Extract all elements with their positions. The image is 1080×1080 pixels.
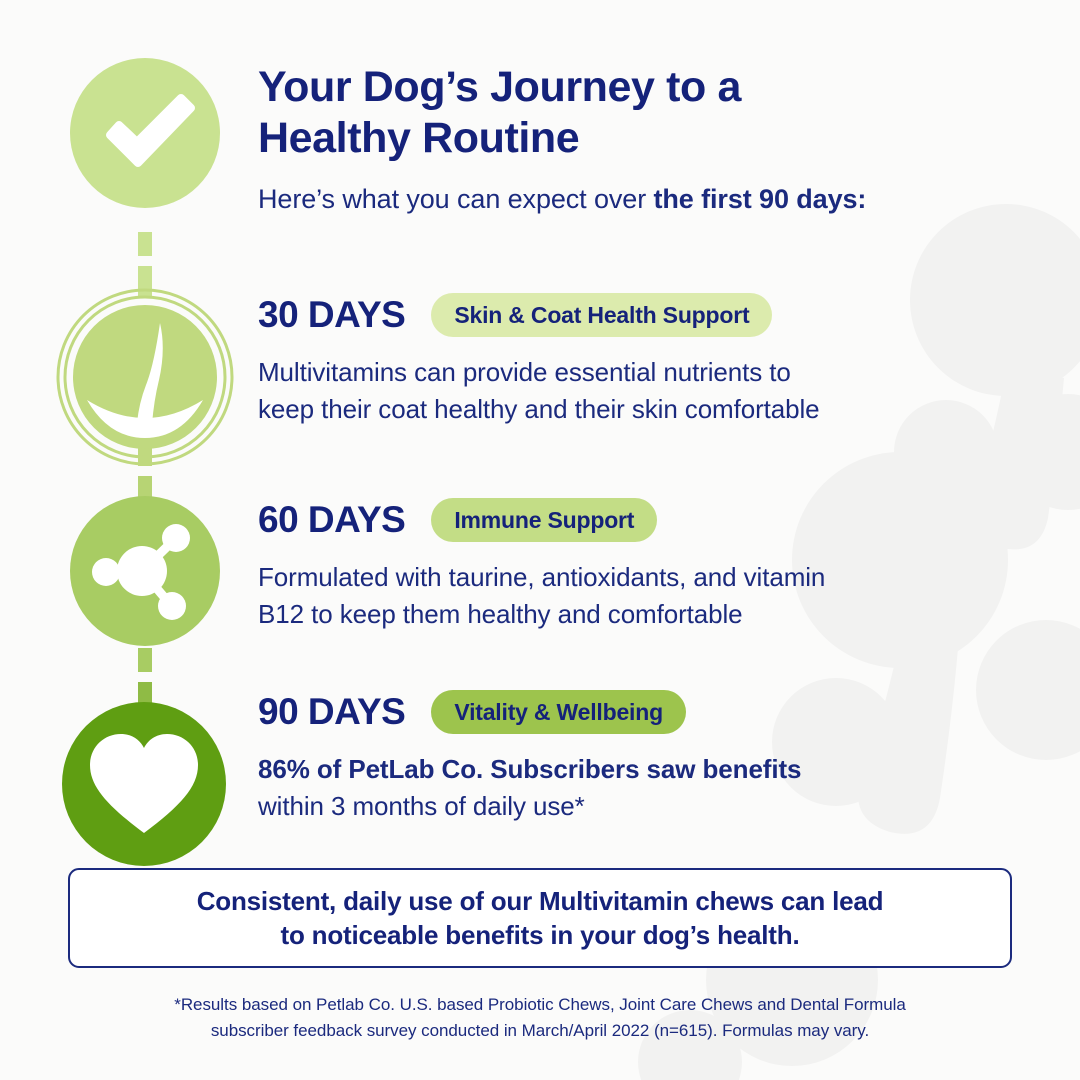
- page-title-line2: Healthy Routine: [258, 113, 1048, 164]
- timeline-node-check: [70, 58, 220, 208]
- disclaimer-line2: subscriber feedback survey conducted in …: [60, 1018, 1020, 1044]
- page-title-line1: Your Dog’s Journey to a: [258, 63, 741, 111]
- stage-90-days-label: 90 DAYS: [258, 691, 405, 733]
- summary-callout-line1: Consistent, daily use of our Multivitami…: [197, 884, 884, 918]
- page-subtitle-emphasis: the first 90 days:: [654, 184, 867, 214]
- stage-60-description: Formulated with taurine, antioxidants, a…: [258, 543, 1058, 633]
- stage-30-description: Multivitamins can provide essential nutr…: [258, 338, 1058, 428]
- timeline-node-heart: [62, 702, 226, 866]
- stage-90-days: 90 DAYS Vitality & Wellbeing 86% of PetL…: [258, 689, 1058, 825]
- hair-follicle-icon: [56, 288, 234, 466]
- summary-callout: Consistent, daily use of our Multivitami…: [68, 868, 1012, 968]
- stage-30-header: 30 DAYS Skin & Coat Health Support: [258, 292, 1058, 338]
- page-subtitle: Here’s what you can expect over the firs…: [258, 163, 1048, 217]
- stage-60-days: 60 DAYS Immune Support Formulated with t…: [258, 497, 1058, 633]
- connector-check-to-30: [138, 232, 152, 296]
- stage-30-line1: Multivitamins can provide essential nutr…: [258, 354, 1058, 391]
- stage-60-days-label: 60 DAYS: [258, 499, 405, 541]
- page-subtitle-prefix: Here’s what you can expect over: [258, 184, 654, 214]
- stage-90-description: 86% of PetLab Co. Subscribers saw benefi…: [258, 735, 1058, 825]
- stage-60-line1: Formulated with taurine, antioxidants, a…: [258, 559, 1058, 596]
- timeline-rail: [0, 0, 250, 880]
- connector-60-to-90: [138, 648, 152, 710]
- summary-callout-line2: to noticeable benefits in your dog’s hea…: [281, 918, 800, 952]
- heart-icon: [62, 702, 226, 866]
- stage-60-header: 60 DAYS Immune Support: [258, 497, 1058, 543]
- page-title: Your Dog’s Journey to a Healthy Routine: [258, 0, 1048, 163]
- stage-90-line1: 86% of PetLab Co. Subscribers saw benefi…: [258, 751, 1058, 788]
- check-icon: [70, 58, 220, 208]
- stage-30-days-label: 30 DAYS: [258, 294, 405, 336]
- stage-90-line2: within 3 months of daily use*: [258, 788, 1058, 825]
- timeline-node-molecule: [70, 496, 220, 646]
- stage-90-benefit-pill: Vitality & Wellbeing: [431, 690, 686, 734]
- stage-60-line2: B12 to keep them healthy and comfortable: [258, 596, 1058, 633]
- disclaimer-line1: *Results based on Petlab Co. U.S. based …: [60, 992, 1020, 1018]
- stage-60-benefit-pill: Immune Support: [431, 498, 657, 542]
- disclaimer: *Results based on Petlab Co. U.S. based …: [60, 992, 1020, 1043]
- header-block: Your Dog’s Journey to a Healthy Routine …: [258, 0, 1048, 218]
- timeline-node-hair-follicle: [56, 288, 234, 466]
- stage-30-line2: keep their coat healthy and their skin c…: [258, 391, 1058, 428]
- stage-30-benefit-pill: Skin & Coat Health Support: [431, 293, 772, 337]
- stage-30-days: 30 DAYS Skin & Coat Health Support Multi…: [258, 292, 1058, 428]
- stage-90-header: 90 DAYS Vitality & Wellbeing: [258, 689, 1058, 735]
- molecule-icon: [70, 496, 220, 646]
